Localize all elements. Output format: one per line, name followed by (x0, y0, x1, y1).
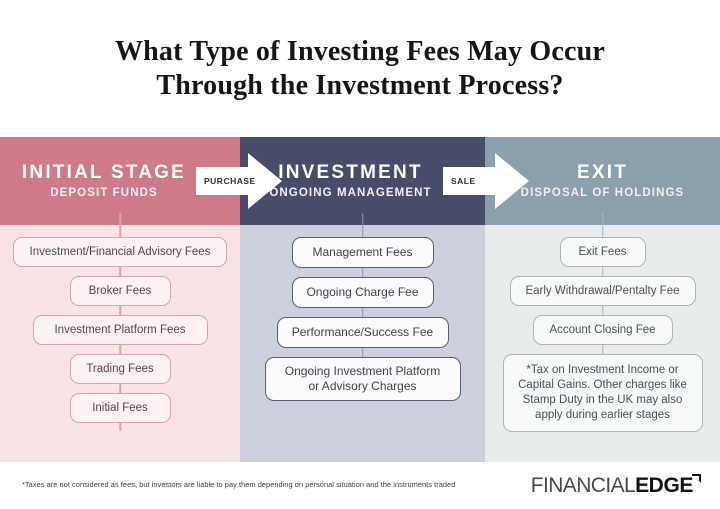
fee-box[interactable]: Trading Fees (70, 354, 171, 384)
footer: *Taxes are not considered as fees, but i… (0, 462, 720, 509)
fee-box[interactable]: Management Fees (292, 237, 434, 268)
stage-header-investment: INVESTMENT ONGOING MANAGEMENT (240, 137, 485, 225)
stage-columns: Investment/Financial Advisory Fees Broke… (0, 225, 720, 462)
logo-flag-icon (693, 474, 702, 498)
stage-subtitle-investment: ONGOING MANAGEMENT (269, 186, 431, 201)
logo-text-financial: FINANCIAL (531, 474, 635, 498)
stage-title-initial: INITIAL STAGE (22, 162, 186, 184)
fee-box[interactable]: Ongoing Charge Fee (292, 277, 434, 308)
stage-subtitle-exit: DISPOSAL OF HOLDINGS (521, 186, 685, 201)
page-title-line-2: Through the Investment Process? (156, 69, 563, 103)
fee-box[interactable]: Investment Platform Fees (33, 315, 208, 345)
stage-title-exit: EXIT (577, 162, 628, 184)
brand-logo: FINANCIAL EDGE (531, 474, 702, 498)
tax-note-box[interactable]: *Tax on Investment Income or Capital Gai… (503, 354, 703, 432)
logo-text-edge: EDGE (635, 474, 693, 498)
fee-box[interactable]: Performance/Success Fee (277, 317, 449, 348)
stage-header-initial: INITIAL STAGE DEPOSIT FUNDS (0, 137, 240, 225)
fee-box[interactable]: Exit Fees (560, 237, 646, 267)
fee-box[interactable]: Account Closing Fee (533, 315, 673, 345)
stage-title-investment: INVESTMENT (278, 162, 422, 184)
fee-box[interactable]: Early Withdrawal/Pentalty Fee (510, 276, 696, 306)
page-title: What Type of Investing Fees May Occur Th… (0, 0, 720, 137)
fee-list-investment: Management Fees Ongoing Charge Fee Perfo… (240, 237, 485, 410)
fee-box[interactable]: Ongoing Investment Platform or Advisory … (265, 357, 461, 401)
stage-column-initial: Investment/Financial Advisory Fees Broke… (0, 225, 240, 462)
fee-box[interactable]: Investment/Financial Advisory Fees (13, 237, 227, 267)
stage-header-band: INITIAL STAGE DEPOSIT FUNDS INVESTMENT O… (0, 137, 720, 225)
stage-header-exit: EXIT DISPOSAL OF HOLDINGS (485, 137, 720, 225)
stage-column-investment: Management Fees Ongoing Charge Fee Perfo… (240, 225, 485, 462)
stage-column-exit: Exit Fees Early Withdrawal/Pentalty Fee … (485, 225, 720, 462)
stage-subtitle-initial: DEPOSIT FUNDS (50, 186, 158, 201)
fee-box[interactable]: Broker Fees (70, 276, 171, 306)
page-title-line-1: What Type of Investing Fees May Occur (115, 35, 605, 69)
fee-list-exit: Exit Fees Early Withdrawal/Pentalty Fee … (485, 237, 720, 441)
footnote-text: *Taxes are not considered as fees, but i… (22, 480, 455, 489)
fee-box[interactable]: Initial Fees (70, 393, 171, 423)
fee-list-initial: Investment/Financial Advisory Fees Broke… (0, 237, 240, 432)
